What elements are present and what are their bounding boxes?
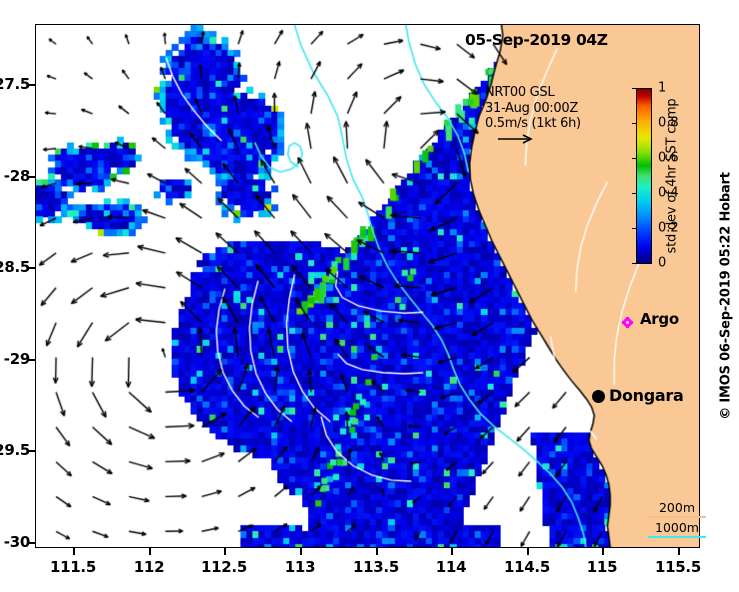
argo-label: Argo xyxy=(640,310,679,328)
x-tick xyxy=(376,548,378,555)
x-tick-label: 114.5 xyxy=(504,558,550,576)
city-dot-icon[interactable] xyxy=(592,390,605,403)
x-tick-label: 115 xyxy=(587,558,617,576)
x-tick-label: 112 xyxy=(134,558,164,576)
x-tick xyxy=(149,548,151,555)
colorbar-tick xyxy=(632,88,637,89)
colorbar-tick-label: 0 xyxy=(658,256,666,271)
vector-legend-scale: 0.5m/s (1kt 6h) xyxy=(485,116,581,132)
argo-float-star-icon[interactable] xyxy=(622,317,633,328)
x-tick-label: 114 xyxy=(436,558,466,576)
colorbar-tick xyxy=(632,158,637,159)
y-tick-label: -28.5 xyxy=(0,258,30,276)
y-tick-label: -27.5 xyxy=(0,75,30,93)
map-plot-area[interactable] xyxy=(35,24,700,548)
colorbar-tick xyxy=(632,228,637,229)
x-tick xyxy=(300,548,302,555)
vector-legend-product: NRT00 GSL xyxy=(485,85,581,101)
bathymetry-1000m-line xyxy=(648,536,706,538)
copyright-credit: © IMOS 06-Sep-2019 05:22 Hobart xyxy=(719,172,734,420)
bathymetry-1000m-label: 1000m xyxy=(648,520,706,535)
y-tick-label: -28 xyxy=(4,167,30,185)
dongara-label: Dongara xyxy=(609,386,684,405)
x-tick xyxy=(451,548,453,555)
x-tick-label: 115.5 xyxy=(655,558,701,576)
vector-legend: NRT00 GSL 31-Aug 00:00Z 0.5m/s (1kt 6h) xyxy=(485,85,581,132)
x-tick xyxy=(224,548,226,555)
x-tick-label: 111.5 xyxy=(50,558,96,576)
right-arrow-icon xyxy=(497,133,537,145)
x-tick xyxy=(602,548,604,555)
sst-heatmap-canvas xyxy=(36,25,699,547)
x-tick xyxy=(73,548,75,555)
y-tick-label: -29 xyxy=(4,350,30,368)
colorbar-gradient xyxy=(636,88,652,264)
y-tick-label: -30 xyxy=(4,533,30,551)
x-tick xyxy=(678,548,680,555)
colorbar: 0 0.2 0.4 0.6 0.8 1 xyxy=(636,88,652,264)
colorbar-title: std dev of 4hr SST comp xyxy=(665,99,680,254)
x-tick-label: 113 xyxy=(285,558,315,576)
x-tick-label: 113.5 xyxy=(353,558,399,576)
vector-legend-reference-time: 31-Aug 00:00Z xyxy=(485,101,581,117)
bathymetry-200m-line xyxy=(648,516,706,518)
colorbar-tick xyxy=(632,263,637,264)
y-tick-label: -29.5 xyxy=(0,441,30,459)
bathymetry-legend: 200m 1000m xyxy=(648,500,706,540)
x-tick xyxy=(527,548,529,555)
map-title: 05-Sep-2019 04Z xyxy=(465,31,608,49)
colorbar-tick xyxy=(632,123,637,124)
colorbar-tick xyxy=(632,193,637,194)
colorbar-tick-label: 1 xyxy=(658,81,666,96)
bathymetry-200m-label: 200m xyxy=(648,500,706,515)
x-tick-label: 112.5 xyxy=(201,558,247,576)
